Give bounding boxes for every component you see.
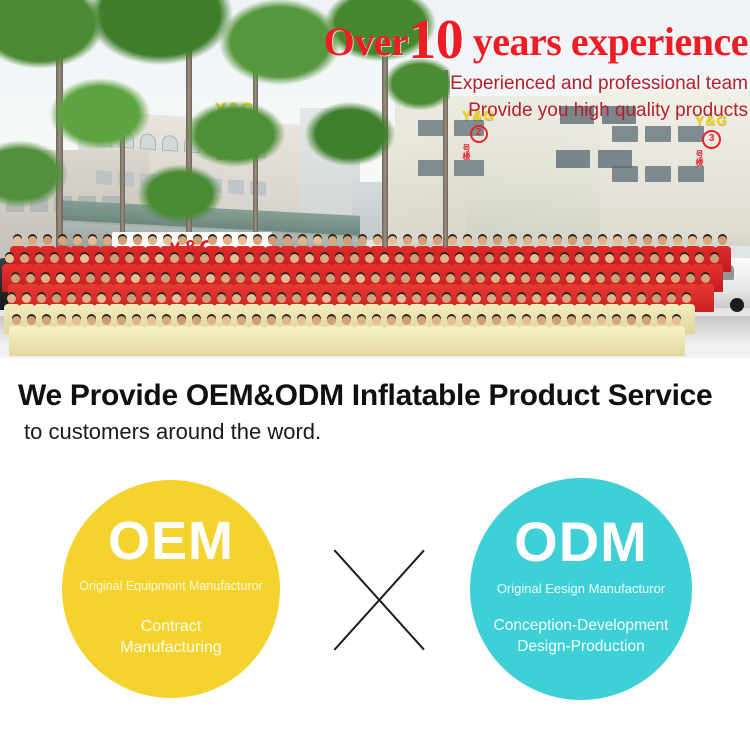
crowd-person xyxy=(594,316,609,356)
window-row xyxy=(612,126,704,142)
crowd-person xyxy=(324,316,339,356)
crowd-person xyxy=(39,316,54,356)
crowd-person xyxy=(159,316,174,356)
promo-banner-page: Y&G 1 号楼 Y&G 2 号楼 Y&G 3 号楼 xyxy=(0,0,750,748)
crowd-person xyxy=(534,316,549,356)
crowd-person xyxy=(489,316,504,356)
headline-prefix: Over xyxy=(324,19,409,64)
crowd-person xyxy=(189,316,204,356)
crowd-person xyxy=(444,316,459,356)
oem-footer: Contract Manufacturing xyxy=(120,616,221,658)
crowd-person xyxy=(399,316,414,356)
crowd-person xyxy=(129,316,144,356)
crowd-person xyxy=(309,316,324,356)
crowd-person xyxy=(279,316,294,356)
crowd-person xyxy=(234,316,249,356)
building-sign-cn: 号楼 xyxy=(695,150,703,166)
crowd-person xyxy=(84,316,99,356)
crowd-person xyxy=(459,316,474,356)
crowd-person xyxy=(429,316,444,356)
crowd-person xyxy=(339,316,354,356)
crowd-person xyxy=(474,316,489,356)
headline-suffix: years experience xyxy=(473,19,748,64)
oem-footer-line-2: Manufacturing xyxy=(120,637,221,658)
crowd-person xyxy=(69,316,84,356)
odm-subtitle: Original Eesign Manufacturor xyxy=(497,582,665,596)
service-statement-line-1: We Provide OEM&ODM Inflatable Product Se… xyxy=(18,378,734,413)
crowd-person xyxy=(249,316,264,356)
crowd-person xyxy=(354,316,369,356)
crowd-person xyxy=(639,316,654,356)
headline-sub-1: Experienced and professional team xyxy=(300,72,748,96)
crowd-person xyxy=(384,316,399,356)
window-row xyxy=(612,166,704,182)
crowd-person xyxy=(564,316,579,356)
oem-subtitle: Original Equipmont Manufacturor xyxy=(79,580,262,594)
crowd-row-cream-seated xyxy=(0,316,750,356)
headline-sub-2: Provide you high quality products xyxy=(300,99,748,123)
crowd-person xyxy=(219,316,234,356)
headline-main: Over10 years experience xyxy=(300,12,748,69)
building-number-badge: 3 xyxy=(702,130,721,149)
crowd-person xyxy=(519,316,534,356)
crowd-person xyxy=(414,316,429,356)
service-statement: We Provide OEM&ODM Inflatable Product Se… xyxy=(18,378,734,446)
crowd-person xyxy=(294,316,309,356)
odm-title: ODM xyxy=(514,514,648,570)
crowd-person xyxy=(264,316,279,356)
crowd-person xyxy=(654,316,669,356)
factory-group-photo: Y&G 1 号楼 Y&G 2 号楼 Y&G 3 号楼 xyxy=(0,0,750,358)
crowd-person xyxy=(174,316,189,356)
building-number-badge: 2 xyxy=(470,125,488,143)
odm-footer-line-2: Design-Production xyxy=(494,637,669,657)
crowd-person xyxy=(504,316,519,356)
oem-title: OEM xyxy=(108,514,234,568)
crowd-person xyxy=(579,316,594,356)
crowd-person xyxy=(114,316,129,356)
crowd-person xyxy=(144,316,159,356)
building-sign-cn: 号楼 xyxy=(462,144,470,160)
oem-circle: OEM Original Equipmont Manufacturor Cont… xyxy=(62,480,280,698)
odm-circle: ODM Original Eesign Manufacturor Concept… xyxy=(470,478,692,700)
crowd-person xyxy=(204,316,219,356)
odm-footer-line-1: Conception-Development xyxy=(494,616,669,636)
odm-footer: Conception-Development Design-Production xyxy=(494,616,669,657)
banner-headline-block: Over10 years experience Experienced and … xyxy=(300,12,748,124)
crowd-person xyxy=(609,316,624,356)
crowd-person xyxy=(9,316,24,356)
crowd-person xyxy=(549,316,564,356)
x-cross-icon xyxy=(318,533,440,667)
service-statement-line-2: to customers around the word. xyxy=(24,419,734,445)
headline-number: 10 xyxy=(408,9,463,71)
crowd-person xyxy=(24,316,39,356)
staff-crowd xyxy=(0,236,750,348)
crowd-person xyxy=(624,316,639,356)
oem-footer-line-1: Contract xyxy=(120,616,221,637)
crowd-person xyxy=(54,316,69,356)
crowd-person xyxy=(669,316,684,356)
crowd-person xyxy=(369,316,384,356)
crowd-person xyxy=(99,316,114,356)
